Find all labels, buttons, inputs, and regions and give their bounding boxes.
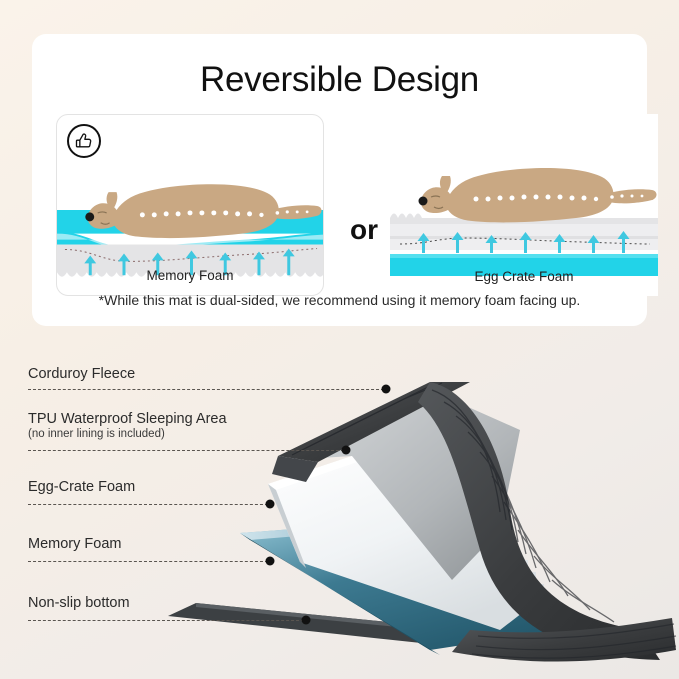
leader-line-egg-crate-foam: [28, 504, 268, 505]
leader-dot-memory-foam: [266, 557, 275, 566]
leader-dot-non-slip-bottom: [302, 616, 311, 625]
leader-line-memory-foam: [28, 561, 268, 562]
leader-line-non-slip-bottom: [28, 620, 304, 621]
leader-line-tpu-waterproof: [28, 450, 344, 451]
comparison-panel-memory-foam: Memory Foam: [56, 114, 324, 296]
thumbs-up-icon: [67, 124, 101, 158]
comparison-panel-egg-crate-foam: Egg Crate Foam: [390, 114, 658, 296]
reversible-design-card: Reversible Design: [32, 34, 647, 326]
label-memory-foam: Memory Foam: [28, 536, 121, 552]
or-divider: or: [340, 214, 388, 246]
panel-caption-memory-foam: Memory Foam: [57, 268, 323, 283]
dog-illustration: [419, 168, 657, 222]
page-title: Reversible Design: [32, 60, 647, 100]
label-corduroy-fleece: Corduroy Fleece: [28, 366, 135, 382]
label-egg-crate-foam: Egg-Crate Foam: [28, 479, 135, 495]
panel-caption-egg-crate-foam: Egg Crate Foam: [390, 269, 658, 284]
leader-dot-corduroy-fleece: [382, 385, 391, 394]
leader-dot-tpu-waterproof: [342, 446, 351, 455]
leader-dot-egg-crate-foam: [266, 500, 275, 509]
label-tpu-waterproof: TPU Waterproof Sleeping Area (no inner l…: [28, 411, 227, 440]
leader-line-corduroy-fleece: [28, 389, 384, 390]
label-non-slip-bottom: Non-slip bottom: [28, 595, 130, 611]
card-footnote: *While this mat is dual-sided, we recomm…: [32, 292, 647, 308]
